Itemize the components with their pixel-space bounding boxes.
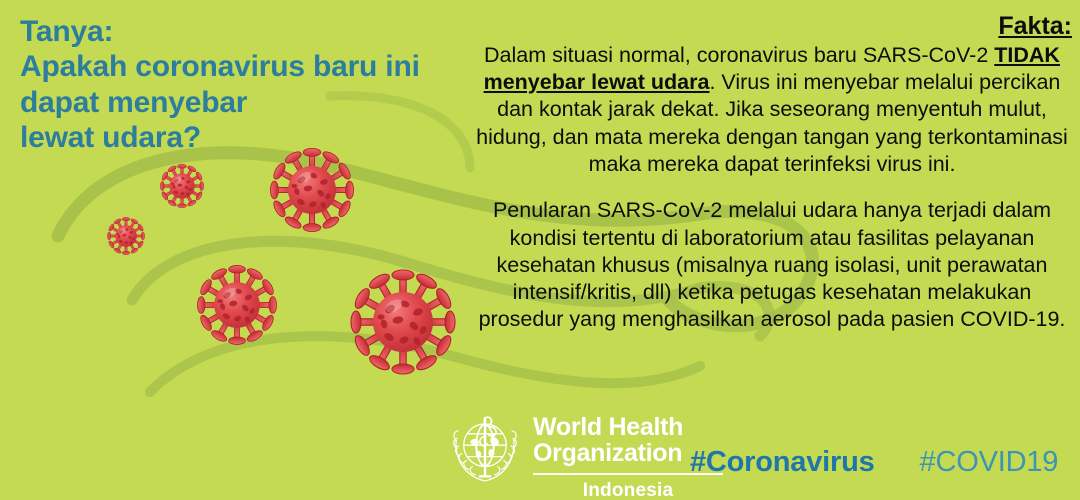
hashtag-coronavirus: #Coronavirus [690,446,875,479]
fact-paragraph-2: Penularan SARS-CoV-2 melalui udara hanya… [472,197,1072,333]
who-logo: World Health Organization Indonesia [447,411,723,500]
virus-particle [197,265,276,344]
virus-particle [351,270,455,374]
infographic-poster: Tanya: Apakah coronavirus baru ini dapat… [0,0,1080,500]
question-line-1: Tanya: [20,14,480,49]
who-line-1: World Health [533,415,723,441]
question-line-3: dapat menyebar [20,85,480,120]
fact-block: Fakta: Dalam situasi normal, coronavirus… [472,12,1072,334]
fact-paragraph-1: Dalam situasi normal, coronavirus baru S… [472,42,1072,178]
virus-particle [160,164,204,208]
hashtag-covid19: #COVID19 [920,446,1059,479]
question-heading: Tanya: Apakah coronavirus baru ini dapat… [20,14,480,156]
fact-paragraph-1-before: Dalam situasi normal, coronavirus baru S… [484,43,994,67]
who-country-label: Indonesia [533,480,723,500]
who-emblem-icon [447,411,523,487]
virus-particle [107,217,144,254]
question-line-2: Apakah coronavirus baru ini [20,49,480,84]
question-line-4: lewat udara? [20,120,480,155]
hashtag-group: #Coronavirus #COVID19 [690,446,1058,479]
fact-heading: Fakta: [472,12,1072,41]
